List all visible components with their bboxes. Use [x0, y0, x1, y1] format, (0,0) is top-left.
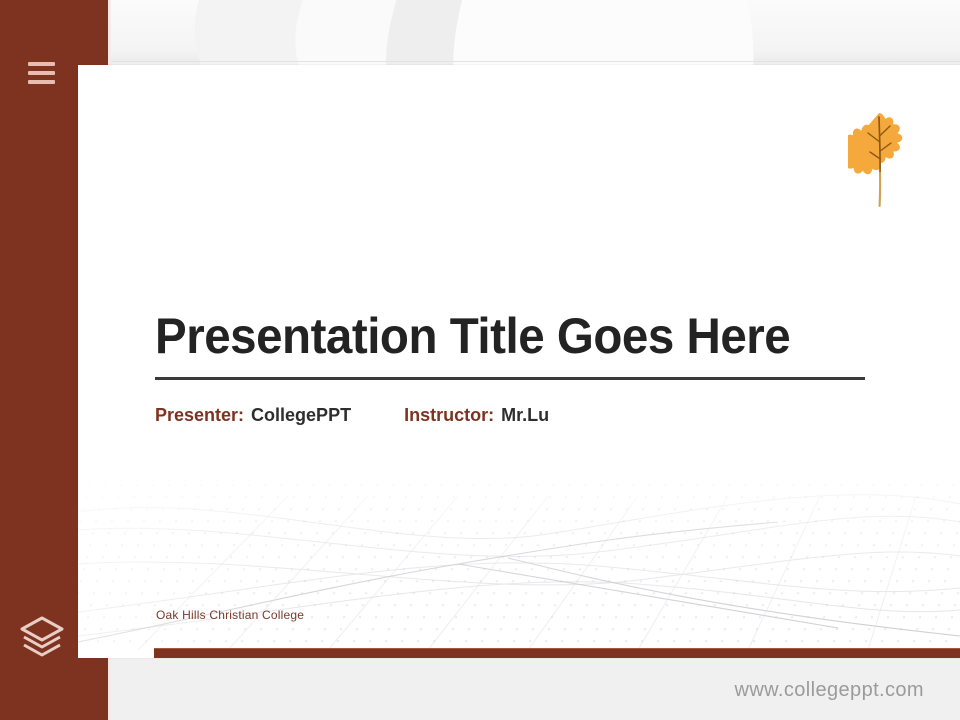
hamburger-bar-3	[28, 80, 55, 84]
meta-item-presenter: Presenter: CollegePPT	[155, 405, 351, 426]
instructor-label: Instructor:	[404, 405, 494, 426]
background-swoosh-band	[0, 0, 960, 70]
layers-stack-logo-icon[interactable]	[18, 614, 66, 658]
title-block: Presentation Title Goes Here	[155, 310, 870, 380]
watermark-url: www.collegeppt.com	[734, 679, 924, 702]
oak-leaf-icon	[848, 109, 910, 209]
instructor-value: Mr.Lu	[501, 405, 549, 426]
hamburger-menu-icon[interactable]	[28, 62, 55, 84]
band-seam-divider	[0, 61, 960, 62]
slide-canvas: Presentation Title Goes Here Presenter: …	[78, 65, 960, 658]
hamburger-bar-1	[28, 62, 55, 66]
title-underline-rule	[155, 377, 865, 380]
slide-footer-text: Oak Hills Christian College	[156, 608, 304, 622]
page-title: Presentation Title Goes Here	[155, 310, 834, 363]
slide-bottom-accent-bar	[154, 648, 960, 658]
app-stage: Presentation Title Goes Here Presenter: …	[0, 0, 960, 720]
presentation-meta-row: Presenter: CollegePPT Instructor: Mr.Lu	[155, 405, 549, 426]
hamburger-bar-2	[28, 71, 55, 75]
swoosh-shape-4	[446, 0, 763, 70]
presenter-label: Presenter:	[155, 405, 244, 426]
meta-item-instructor: Instructor: Mr.Lu	[404, 405, 549, 426]
presenter-value: CollegePPT	[251, 405, 351, 426]
